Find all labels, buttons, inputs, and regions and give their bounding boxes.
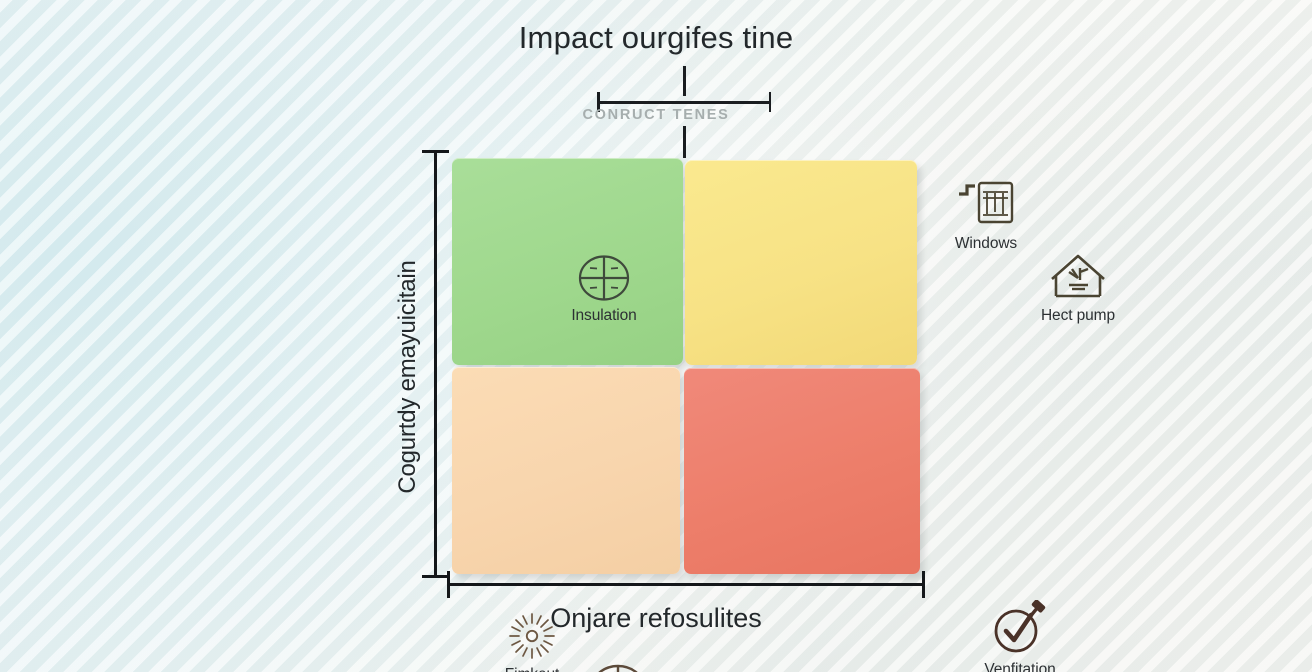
crosshair-circle-icon bbox=[577, 254, 631, 302]
x-axis-cap-right bbox=[922, 571, 925, 598]
center-divider-tick-middle bbox=[683, 126, 686, 158]
subtitle: CONRUCT TENES bbox=[0, 107, 1312, 123]
quadrant-top-left[interactable]: Insulation bbox=[452, 158, 683, 365]
y-axis-line bbox=[434, 150, 437, 578]
quadrant-matrix: Insulation bbox=[452, 158, 920, 576]
item-label: Windows bbox=[955, 235, 1017, 253]
quadrant-bottom-right[interactable]: Venfitation system bbox=[684, 368, 920, 574]
x-axis-cap-left bbox=[447, 571, 450, 598]
y-axis-cap-top bbox=[422, 150, 449, 153]
page-title: Impact ourgifes tine bbox=[0, 20, 1312, 56]
y-axis-label: Cogurtdy emayuicitain bbox=[394, 237, 422, 517]
top-bracket-bar bbox=[597, 101, 771, 104]
x-axis-line bbox=[447, 583, 925, 586]
item-coriuit-dinivesttment[interactable]: Coriuit d'inivesttment bbox=[552, 663, 684, 672]
quadrant-top-right[interactable]: Windows bbox=[685, 160, 917, 365]
item-label: Hect pump bbox=[1041, 307, 1115, 325]
item-insulation[interactable]: Insulation bbox=[538, 254, 670, 325]
item-label: Venfitation system bbox=[984, 661, 1055, 672]
y-axis-cap-bottom bbox=[422, 575, 449, 578]
item-windows[interactable]: Windows bbox=[920, 174, 1052, 253]
globe-grid-icon bbox=[589, 663, 647, 672]
window-panel-icon bbox=[953, 174, 1019, 230]
quadrant-bottom-left[interactable]: Fimkeut nerinetes Coriuit d'iniv bbox=[452, 367, 680, 574]
item-heat-pump[interactable]: Hect pump bbox=[1012, 250, 1144, 325]
item-label: Insulation bbox=[571, 307, 636, 325]
house-heatpump-icon bbox=[1047, 250, 1109, 302]
x-axis-label: Onjare refosulites bbox=[0, 603, 1312, 634]
matrix-diagram-canvas: Impact ourgifes tine CONRUCT TENES Cogur… bbox=[0, 0, 1312, 672]
